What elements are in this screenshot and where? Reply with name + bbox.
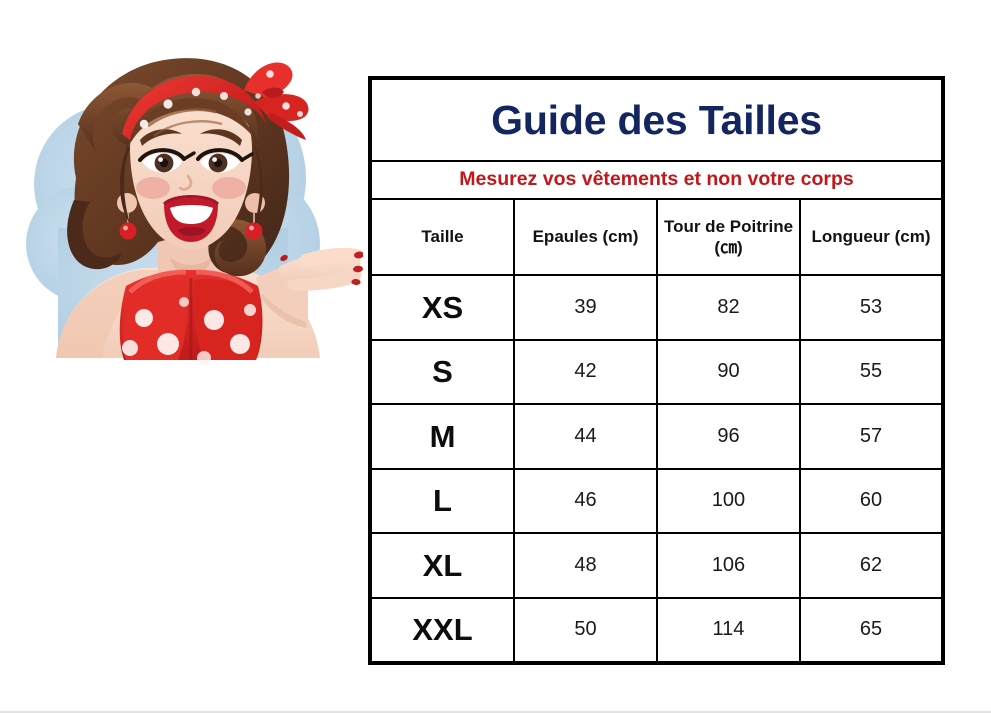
pinup-woman-illustration [18,28,363,376]
cell-epaules: 48 [514,533,657,598]
cell-epaules: 42 [514,340,657,405]
page-title: Guide des Tailles [491,97,822,143]
table-row: XS 39 82 53 [370,275,943,340]
cell-longueur: 55 [800,340,943,405]
cell-size: XL [370,533,514,598]
cell-epaules: 46 [514,469,657,534]
cell-epaules: 39 [514,275,657,340]
cell-poitrine: 96 [657,404,800,469]
table-row: L 46 100 60 [370,469,943,534]
column-header-longueur: Longueur (cm) [800,199,943,275]
page-subtitle: Mesurez vos vêtements et non votre corps [459,168,853,190]
table-header-row: Taille Epaules (cm) Tour de Poitrine (㎝)… [370,199,943,275]
column-header-taille: Taille [370,199,514,275]
table-title-row: Guide des Tailles [370,78,943,161]
polka-dot-top [120,270,263,365]
table-title-cell: Guide des Tailles [370,78,943,161]
table-row: M 44 96 57 [370,404,943,469]
cell-size: L [370,469,514,534]
column-header-tour-de-poitrine: Tour de Poitrine (㎝) [657,199,800,275]
cell-epaules: 44 [514,404,657,469]
table-subtitle-cell: Mesurez vos vêtements et non votre corps [370,161,943,199]
cell-poitrine: 82 [657,275,800,340]
column-header-epaules: Epaules (cm) [514,199,657,275]
table-subtitle-row: Mesurez vos vêtements et non votre corps [370,161,943,199]
cell-size: M [370,404,514,469]
table-row: XL 48 106 62 [370,533,943,598]
cell-longueur: 57 [800,404,943,469]
cell-epaules: 50 [514,598,657,664]
cell-size: S [370,340,514,405]
table-row: S 42 90 55 [370,340,943,405]
size-guide-table: Guide des Tailles Mesurez vos vêtements … [368,76,945,665]
cell-longueur: 60 [800,469,943,534]
cell-poitrine: 114 [657,598,800,664]
cell-size: XXL [370,598,514,664]
cell-size: XS [370,275,514,340]
cell-poitrine: 90 [657,340,800,405]
cell-poitrine: 100 [657,469,800,534]
cell-longueur: 65 [800,598,943,664]
cell-poitrine: 106 [657,533,800,598]
cell-longueur: 62 [800,533,943,598]
table-row: XXL 50 114 65 [370,598,943,664]
cell-longueur: 53 [800,275,943,340]
